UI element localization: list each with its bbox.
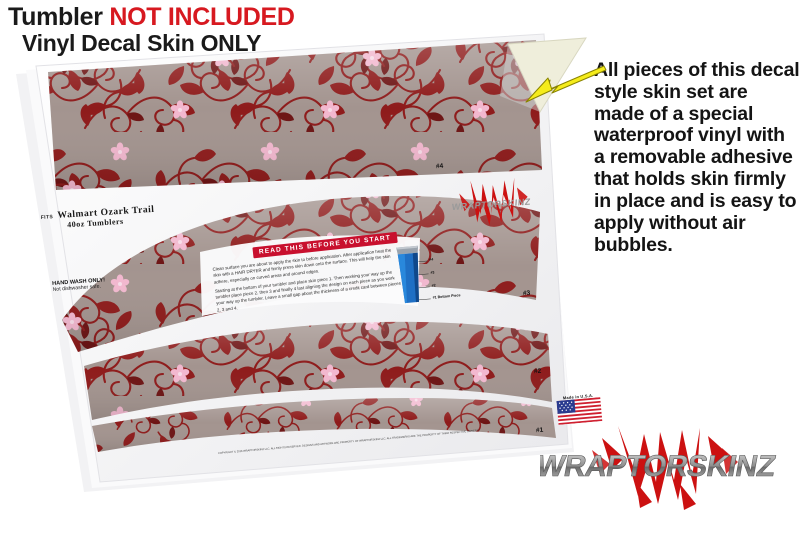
- us-flag-icon: [556, 397, 602, 425]
- annotation-text: All pieces of this decal style skin set …: [594, 60, 800, 256]
- callout-arrow: [508, 60, 608, 112]
- header-prefix: Tumbler: [8, 3, 109, 31]
- wraptorskinz-logo: WRAPTORSKINZ: [540, 424, 798, 510]
- header-emphasis: NOT INCLUDED: [109, 3, 294, 31]
- piece-marker-3: #3: [523, 290, 531, 298]
- tumbler-label-2: #2: [431, 283, 435, 287]
- tumbler-label-4: #4: [429, 257, 433, 261]
- tumbler-diagram: #4 #3 #2 #1 Bottom Piece: [392, 239, 474, 312]
- tumbler-label-3: #3: [430, 270, 434, 274]
- header-line-1: Tumbler NOT INCLUDED: [8, 4, 295, 31]
- header-line-2: Vinyl Decal Skin ONLY: [22, 31, 295, 55]
- header-text: Tumbler NOT INCLUDED Vinyl Decal Skin ON…: [8, 4, 295, 55]
- logo-wordmark: WRAPTORSKINZ: [540, 450, 778, 483]
- piece-marker-2: #2: [534, 368, 542, 376]
- fits-prefix: FITS: [41, 214, 54, 221]
- product-image: WRAPTORSKINZ FITS Walmart Ozark Trail 40…: [0, 0, 800, 534]
- piece-marker-4: #4: [436, 163, 444, 171]
